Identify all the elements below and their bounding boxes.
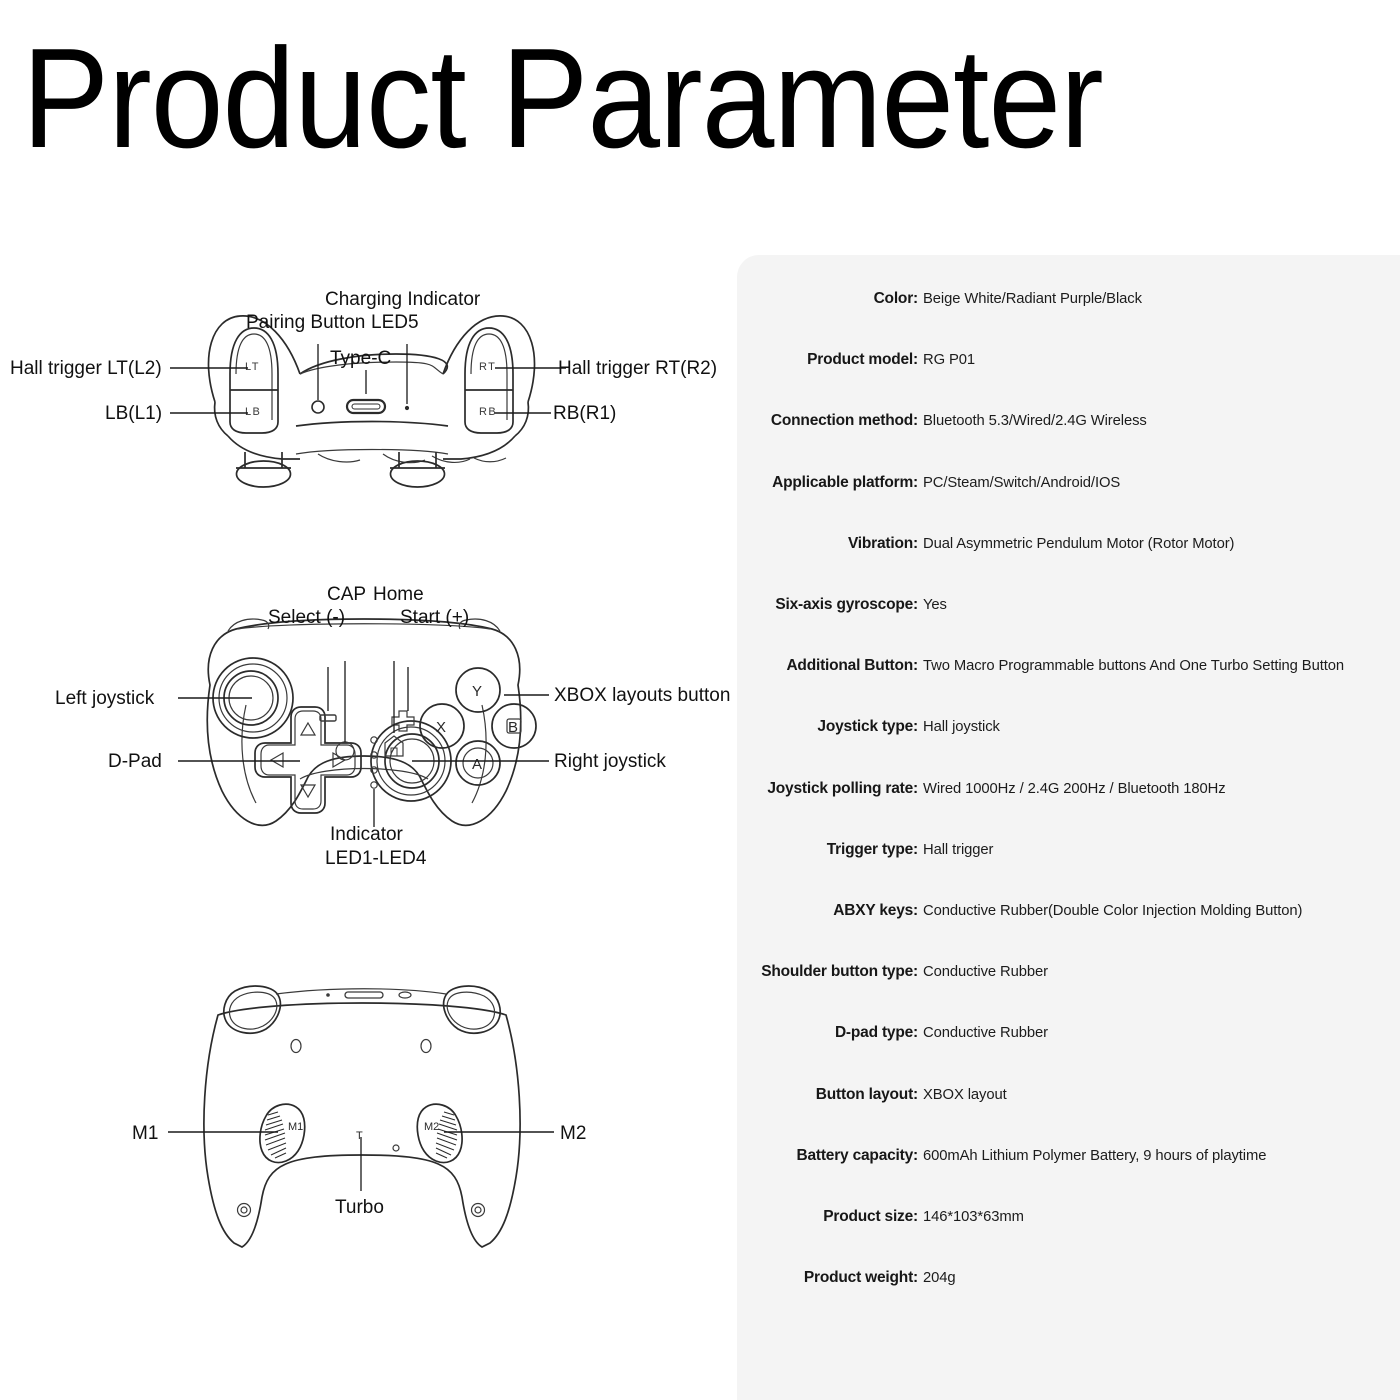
spec-label: Joystick type:	[737, 718, 918, 736]
spec-label: Product size:	[737, 1208, 918, 1226]
spec-row: Product model:RG P01	[737, 351, 1400, 373]
spec-label: Six-axis gyroscope:	[737, 596, 918, 614]
spec-value: RG P01	[923, 352, 975, 368]
spec-label: Vibration:	[737, 535, 918, 553]
spec-label: Button layout:	[737, 1086, 918, 1104]
spec-row: Connection method:Bluetooth 5.3/Wired/2.…	[737, 412, 1400, 434]
spec-row: Trigger type:Hall trigger	[737, 841, 1400, 863]
label-m2: M2	[560, 1123, 586, 1144]
spec-row: Joystick polling rate:Wired 1000Hz / 2.4…	[737, 780, 1400, 802]
label-select: Select (-)	[268, 607, 345, 628]
type-c-port	[347, 400, 385, 413]
spec-row: Six-axis gyroscope:Yes	[737, 596, 1400, 618]
pairing-button-hole	[312, 401, 324, 413]
turbo-button: T	[356, 1130, 363, 1142]
svg-text:LT: LT	[245, 361, 260, 373]
abxy-label-a: A	[472, 756, 482, 773]
label-right-joystick: Right joystick	[554, 751, 666, 772]
spec-row: Product weight:204g	[737, 1269, 1400, 1291]
label-rb-r1: RB(R1)	[553, 403, 616, 424]
spec-value: PC/Steam/Switch/Android/IOS	[923, 475, 1120, 491]
controller-back-view-diagram: M1 M2 T	[100, 965, 720, 1255]
spec-label: Shoulder button type:	[737, 963, 918, 981]
spec-value: Hall trigger	[923, 842, 993, 858]
label-start: Start (+)	[400, 607, 469, 628]
spec-value: 204g	[923, 1270, 956, 1286]
spec-value: Two Macro Programmable buttons And One T…	[923, 658, 1344, 674]
spec-label: Color:	[737, 290, 918, 308]
m2-paddle-cap: M2	[424, 1121, 439, 1133]
spec-row: Color:Beige White/Radiant Purple/Black	[737, 290, 1400, 312]
spec-value: Bluetooth 5.3/Wired/2.4G Wireless	[923, 413, 1147, 429]
select-button	[320, 715, 336, 721]
spec-value: 600mAh Lithium Polymer Battery, 9 hours …	[923, 1148, 1266, 1164]
spec-value: Beige White/Radiant Purple/Black	[923, 291, 1142, 307]
label-cap: CAP	[327, 584, 366, 605]
label-d-pad: D-Pad	[108, 751, 162, 772]
home-button	[385, 736, 403, 756]
spec-row: Button layout:XBOX layout	[737, 1086, 1400, 1108]
turbo-glyph: T	[356, 1130, 363, 1142]
label-turbo: Turbo	[335, 1197, 384, 1218]
label-left-joystick: Left joystick	[55, 688, 155, 709]
label-indicator: Indicator	[330, 824, 404, 845]
label-pairing-button: Pairing Button	[246, 312, 365, 333]
spec-label: Connection method:	[737, 412, 918, 430]
spec-value: Conductive Rubber(Double Color Injection…	[923, 903, 1302, 919]
label-led5: LED5	[371, 312, 419, 333]
label-m1: M1	[132, 1123, 158, 1144]
spec-label: D-pad type:	[737, 1024, 918, 1042]
spec-label: Joystick polling rate:	[737, 780, 918, 798]
spec-value: Conductive Rubber	[923, 964, 1048, 980]
label-lb-l1: LB(L1)	[105, 403, 162, 424]
abxy-label-x: X	[436, 719, 446, 736]
spec-label: Product weight:	[737, 1269, 918, 1287]
spec-value: Yes	[923, 597, 947, 613]
spec-label: Additional Button:	[737, 657, 918, 675]
spec-value: Wired 1000Hz / 2.4G 200Hz / Bluetooth 18…	[923, 781, 1226, 797]
spec-row: Additional Button:Two Macro Programmable…	[737, 657, 1400, 679]
m2-paddle: M2	[417, 1104, 462, 1162]
spec-row: Battery capacity:600mAh Lithium Polymer …	[737, 1147, 1400, 1169]
label-type-c: Type-C	[330, 348, 391, 369]
m1-paddle-cap: M1	[288, 1121, 303, 1133]
top-small-hole	[399, 992, 411, 998]
spec-panel: Color:Beige White/Radiant Purple/BlackPr…	[737, 255, 1400, 1400]
spec-row: D-pad type:Conductive Rubber	[737, 1024, 1400, 1046]
spec-row: Vibration:Dual Asymmetric Pendulum Motor…	[737, 535, 1400, 557]
led5-indicator	[405, 406, 409, 410]
spec-value: Conductive Rubber	[923, 1025, 1048, 1041]
label-charging-indicator: Charging Indicator	[325, 289, 481, 310]
spec-label: ABXY keys:	[737, 902, 918, 920]
svg-text:LB: LB	[245, 406, 261, 418]
spec-label: Applicable platform:	[737, 474, 918, 492]
abxy-label-y: Y	[472, 683, 482, 700]
page-title: Product Parameter	[22, 28, 1273, 170]
spec-value: 146*103*63mm	[923, 1209, 1024, 1225]
label-home: Home	[373, 584, 424, 605]
svg-text:RB: RB	[479, 406, 497, 418]
controller-front-view-diagram: Y X B A CAP Home Select (-)	[0, 565, 740, 885]
spec-label: Battery capacity:	[737, 1147, 918, 1165]
screw-bottom-left	[238, 1204, 251, 1217]
spec-row: Joystick type:Hall joystick	[737, 718, 1400, 740]
m1-paddle: M1	[260, 1104, 305, 1162]
spec-value: XBOX layout	[923, 1087, 1007, 1103]
spec-row: Shoulder button type:Conductive Rubber	[737, 963, 1400, 985]
spec-row: Applicable platform:PC/Steam/Switch/Andr…	[737, 474, 1400, 496]
spec-label: Trigger type:	[737, 841, 918, 859]
label-led1-led4: LED1-LED4	[325, 848, 427, 869]
label-hall-trigger-rt: Hall trigger RT(R2)	[558, 358, 717, 379]
label-xbox-layouts-button: XBOX layouts button	[554, 685, 730, 706]
top-slot	[345, 992, 383, 998]
controller-top-view-diagram: LT LB RT RB	[0, 282, 740, 497]
label-hall-trigger-lt: Hall trigger LT(L2)	[10, 358, 162, 379]
spec-value: Hall joystick	[923, 719, 1000, 735]
spec-row: ABXY keys:Conductive Rubber(Double Color…	[737, 902, 1400, 924]
center-small-hole	[393, 1145, 399, 1151]
svg-text:RT: RT	[479, 361, 496, 373]
spec-label: Product model:	[737, 351, 918, 369]
spec-row: Product size:146*103*63mm	[737, 1208, 1400, 1230]
spec-value: Dual Asymmetric Pendulum Motor (Rotor Mo…	[923, 536, 1234, 552]
screw-bottom-right	[472, 1204, 485, 1217]
